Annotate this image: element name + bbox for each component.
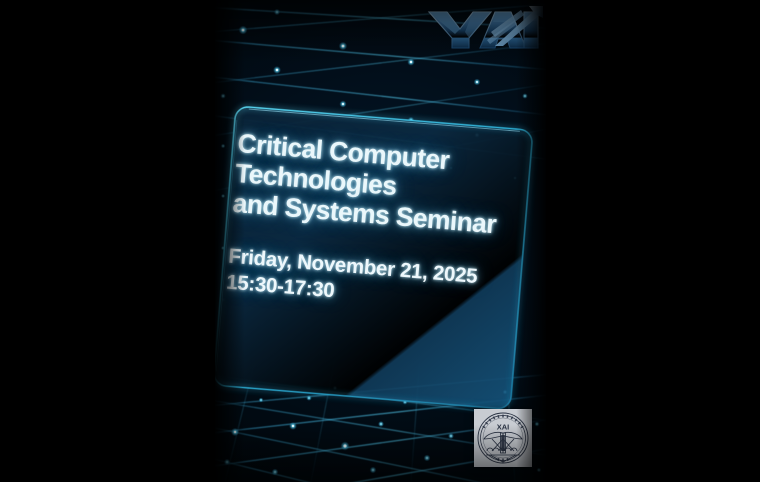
poster-root: Critical Computer Technologies and Syste… — [0, 0, 760, 482]
xai-logo-icon — [425, 4, 543, 56]
slide-stage: Critical Computer Technologies and Syste… — [215, 0, 546, 482]
university-seal-icon: ХАІ — [474, 409, 532, 467]
svg-text:ХАІ: ХАІ — [497, 423, 510, 432]
card-text-block: Critical Computer Technologies and Syste… — [225, 128, 538, 320]
